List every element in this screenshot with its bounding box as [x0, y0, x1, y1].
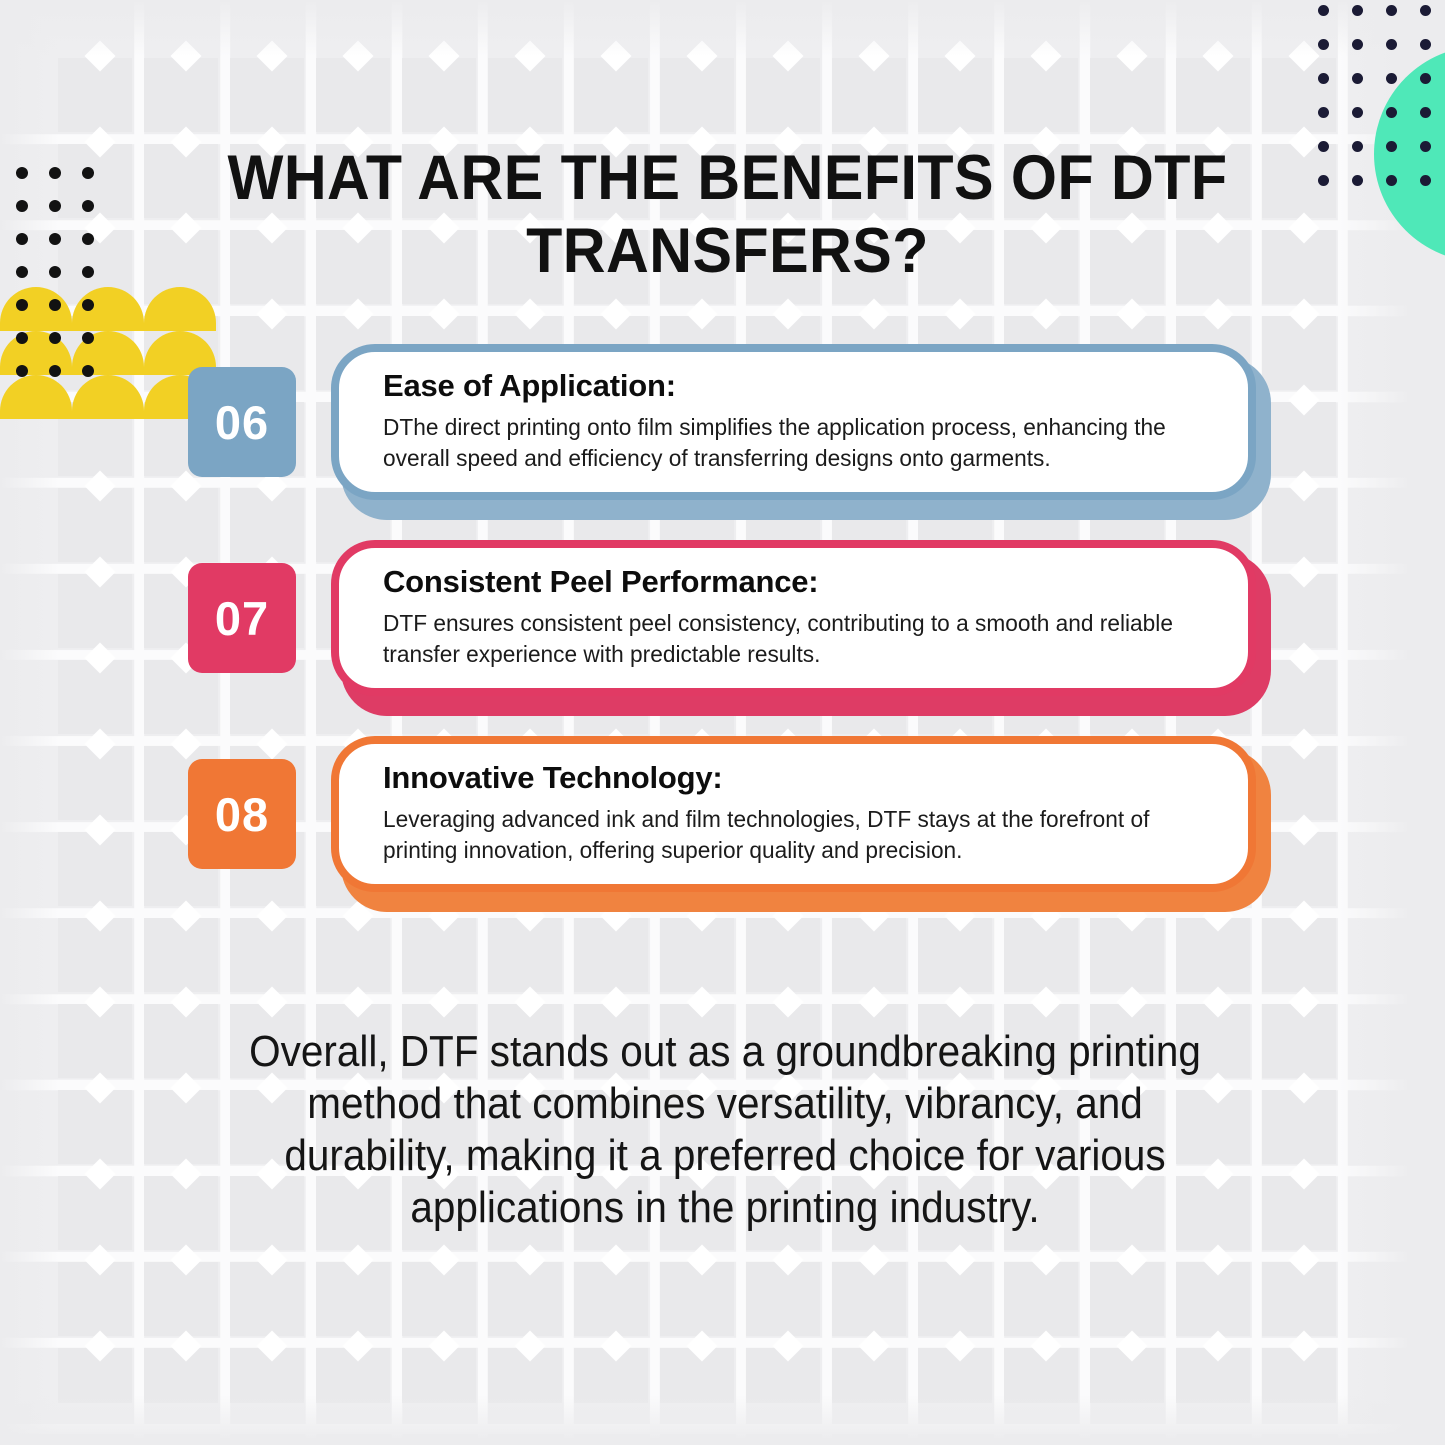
- dot-grid-left: [16, 167, 115, 398]
- card-title: Consistent Peel Performance:: [383, 562, 1214, 602]
- decorative-dot: [1318, 175, 1329, 186]
- card-surface: Ease of Application:DThe direct printing…: [331, 344, 1256, 500]
- decorative-dot: [82, 167, 94, 179]
- decorative-dot: [16, 233, 28, 245]
- decorative-dot: [1420, 141, 1431, 152]
- card-description: DThe direct printing onto film simplifie…: [383, 412, 1185, 474]
- decorative-dot: [49, 266, 61, 278]
- card-surface: Consistent Peel Performance:DTF ensures …: [331, 540, 1256, 696]
- decorative-dot: [16, 332, 28, 344]
- decorative-dot: [49, 200, 61, 212]
- halfcircle: [144, 287, 216, 331]
- card-description: DTF ensures consistent peel consistency,…: [383, 608, 1185, 670]
- decorative-dot: [49, 167, 61, 179]
- card-number-badge: 08: [188, 759, 296, 869]
- benefit-card-list: 06Ease of Application:DThe direct printi…: [188, 344, 1268, 932]
- decorative-dot: [82, 200, 94, 212]
- card-body-wrapper: Innovative Technology:Leveraging advance…: [331, 736, 1266, 906]
- decorative-dot: [1318, 5, 1329, 16]
- decorative-dot: [1420, 5, 1431, 16]
- decorative-dot: [1318, 107, 1329, 118]
- decorative-dot: [49, 365, 61, 377]
- card-body-wrapper: Consistent Peel Performance:DTF ensures …: [331, 540, 1266, 710]
- decorative-dot: [82, 365, 94, 377]
- card-title: Ease of Application:: [383, 366, 1214, 406]
- decorative-dot: [1420, 107, 1431, 118]
- decorative-dot: [82, 233, 94, 245]
- decorative-dot: [1386, 73, 1397, 84]
- card-body-wrapper: Ease of Application:DThe direct printing…: [331, 344, 1266, 514]
- decorative-dot: [82, 332, 94, 344]
- card-description: Leveraging advanced ink and film technol…: [383, 804, 1185, 866]
- decorative-dot: [1386, 107, 1397, 118]
- decorative-dot: [1352, 39, 1363, 50]
- decorative-dot: [1420, 73, 1431, 84]
- benefit-card: 08Innovative Technology:Leveraging advan…: [188, 736, 1268, 932]
- decorative-dot: [1386, 39, 1397, 50]
- card-title: Innovative Technology:: [383, 758, 1214, 798]
- benefit-card: 06Ease of Application:DThe direct printi…: [188, 344, 1268, 540]
- decorative-dot: [16, 299, 28, 311]
- decorative-dot: [16, 365, 28, 377]
- decorative-dot: [49, 299, 61, 311]
- decorative-dot: [1420, 175, 1431, 186]
- card-number-badge: 07: [188, 563, 296, 673]
- decorative-dot: [1386, 141, 1397, 152]
- decorative-dot: [1352, 5, 1363, 16]
- benefit-card: 07Consistent Peel Performance:DTF ensure…: [188, 540, 1268, 736]
- page-title: WHAT ARE THE BENEFITS OF DTF TRANSFERS?: [222, 142, 1233, 288]
- decorative-dot: [1352, 107, 1363, 118]
- dot-grid-top-right: [1318, 5, 1445, 209]
- decorative-dot: [16, 167, 28, 179]
- decorative-dot: [16, 200, 28, 212]
- decorative-dot: [49, 332, 61, 344]
- decorative-dot: [1420, 39, 1431, 50]
- decorative-dot: [1352, 175, 1363, 186]
- decorative-dot: [49, 233, 61, 245]
- card-surface: Innovative Technology:Leveraging advance…: [331, 736, 1256, 892]
- decorative-dot: [1352, 73, 1363, 84]
- decorative-dot: [1318, 73, 1329, 84]
- outro-paragraph: Overall, DTF stands out as a groundbreak…: [219, 1026, 1231, 1234]
- decorative-dot: [1318, 39, 1329, 50]
- decorative-dot: [82, 299, 94, 311]
- decorative-dot: [16, 266, 28, 278]
- card-number-badge: 06: [188, 367, 296, 477]
- decorative-dot: [1386, 175, 1397, 186]
- decorative-dot: [1386, 5, 1397, 16]
- decorative-dot: [1318, 141, 1329, 152]
- decorative-dot: [1352, 141, 1363, 152]
- decorative-dot: [82, 266, 94, 278]
